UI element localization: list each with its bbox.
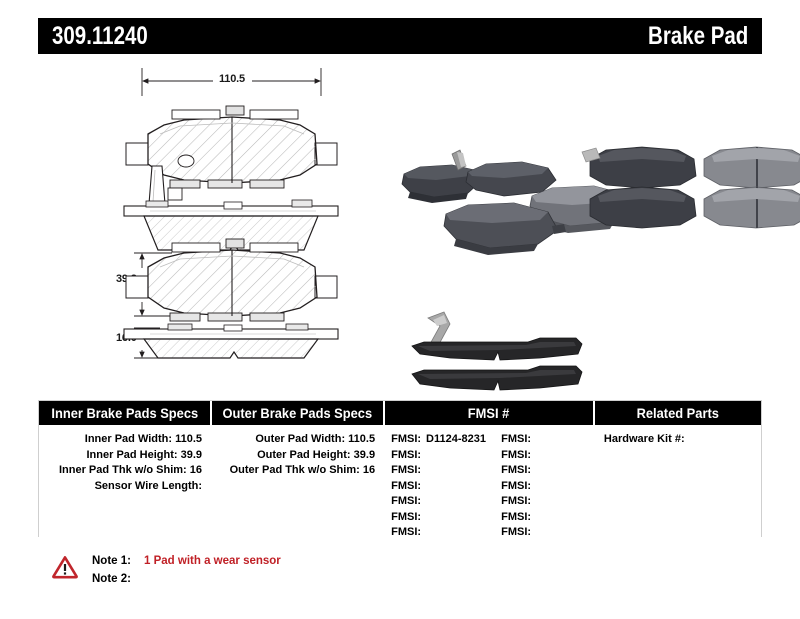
table-header-inner-specs: Inner Brake Pads Specs — [39, 401, 210, 425]
fmsi-value: D1124-8231 — [421, 433, 486, 445]
fmsi-value — [531, 449, 536, 461]
fmsi-value — [531, 480, 536, 492]
fmsi-label: FMSI: — [501, 432, 531, 448]
spec-row: Outer Pad Thk w/o Shim: 16 — [212, 463, 375, 479]
fmsi-label: FMSI: — [391, 448, 421, 464]
specifications-table: Inner Brake Pads Specs Outer Brake Pads … — [38, 400, 762, 537]
fmsi-label: FMSI: — [501, 463, 531, 479]
fmsi-row: FMSI: — [501, 525, 536, 541]
warning-triangle-icon — [52, 555, 78, 579]
fmsi-label: FMSI: — [501, 494, 531, 510]
table-header-outer-specs: Outer Brake Pads Specs — [212, 401, 383, 425]
fmsi-value — [531, 511, 536, 523]
pad-front-view-drawing — [126, 239, 337, 321]
fmsi-label: FMSI: — [391, 479, 421, 495]
fmsi-row: FMSI:D1124-8231 — [391, 432, 501, 448]
page-header-bar: 309.11240 Brake Pad — [38, 18, 762, 54]
note-row-2: Note 2: — [92, 570, 281, 588]
fmsi-value — [531, 433, 536, 445]
brake-pad-pair-edge-photo — [412, 312, 582, 390]
spec-label: Inner Pad Height: — [87, 449, 178, 461]
fmsi-value — [421, 511, 426, 523]
fmsi-value — [531, 495, 536, 507]
fmsi-column-2: FMSI: FMSI: FMSI: FMSI: FMSI: FMSI: FMSI… — [501, 432, 536, 537]
fmsi-row: FMSI: — [391, 525, 501, 541]
table-header-row: Inner Brake Pads Specs Outer Brake Pads … — [39, 401, 761, 425]
table-body-row: Inner Pad Width: 110.5 Inner Pad Height:… — [39, 425, 761, 537]
fmsi-label: FMSI: — [391, 463, 421, 479]
fmsi-value — [421, 495, 426, 507]
note-1-label: Note 1: — [92, 552, 144, 570]
spec-value: 39.9 — [181, 449, 202, 461]
fmsi-value — [421, 464, 426, 476]
fmsi-row: FMSI: — [391, 463, 501, 479]
fmsi-label: FMSI: — [501, 479, 531, 495]
spec-row: Inner Pad Height: 39.9 — [39, 448, 202, 464]
related-part-label: Hardware Kit #: — [604, 433, 685, 445]
fmsi-value — [421, 480, 426, 492]
fmsi-label: FMSI: — [391, 432, 421, 448]
spec-row: Inner Pad Width: 110.5 — [39, 432, 202, 448]
spec-label: Inner Pad Thk w/o Shim: — [59, 464, 187, 476]
note-2-label: Note 2: — [92, 570, 144, 588]
fmsi-row: FMSI: — [391, 448, 501, 464]
spec-row: Outer Pad Width: 110.5 — [212, 432, 375, 448]
spec-value: 16 — [363, 464, 375, 476]
brake-pad-set-grid-photo — [582, 147, 800, 228]
spec-label: Inner Pad Width: — [85, 433, 172, 445]
related-part-row: Hardware Kit #: — [604, 432, 761, 448]
fmsi-row: FMSI: — [501, 510, 536, 526]
line-drawings-svg — [0, 54, 800, 394]
spec-label: Sensor Wire Length: — [95, 480, 202, 492]
table-header-inner-label: Inner Brake Pads Specs — [51, 405, 198, 421]
fmsi-row: FMSI: — [501, 432, 536, 448]
width-dimension-line — [142, 68, 321, 96]
fmsi-cell: FMSI:D1124-8231 FMSI: FMSI: FMSI: FMSI: … — [385, 425, 593, 537]
fmsi-row: FMSI: — [391, 510, 501, 526]
spec-value: 110.5 — [175, 433, 202, 445]
fmsi-label: FMSI: — [391, 494, 421, 510]
fmsi-row: FMSI: — [501, 494, 536, 510]
spec-label: Outer Pad Thk w/o Shim: — [230, 464, 360, 476]
spec-row: Inner Pad Thk w/o Shim: 16 — [39, 463, 202, 479]
fmsi-label: FMSI: — [501, 525, 531, 541]
spec-value: 16 — [190, 464, 202, 476]
pad-edge-view-drawing — [124, 324, 338, 358]
note-1-value: 1 Pad with a wear sensor — [144, 552, 281, 570]
fmsi-row: FMSI: — [391, 494, 501, 510]
table-header-fmsi-label: FMSI # — [468, 405, 510, 421]
spec-row: Outer Pad Height: 39.9 — [212, 448, 375, 464]
spec-row: Sensor Wire Length: — [39, 479, 202, 495]
fmsi-value — [421, 449, 426, 461]
spec-value: 110.5 — [348, 433, 375, 445]
fmsi-column-1: FMSI:D1124-8231 FMSI: FMSI: FMSI: FMSI: … — [391, 432, 501, 537]
fmsi-value — [531, 464, 536, 476]
table-header-fmsi: FMSI # — [385, 401, 593, 425]
spec-value: 39.9 — [354, 449, 375, 461]
fmsi-label: FMSI: — [391, 510, 421, 526]
table-header-outer-label: Outer Brake Pads Specs — [223, 405, 373, 421]
notes-section: Note 1: 1 Pad with a wear sensor Note 2: — [52, 552, 281, 588]
drawings-area: 110.5 39.2 16.0 — [0, 54, 800, 394]
fmsi-row: FMSI: — [501, 448, 536, 464]
fmsi-row: FMSI: — [501, 463, 536, 479]
part-number: 309.11240 — [52, 24, 148, 49]
table-header-related-label: Related Parts — [637, 405, 719, 421]
related-parts-cell: Hardware Kit #: — [595, 425, 761, 537]
page-title: Brake Pad — [648, 24, 748, 49]
fmsi-row: FMSI: — [391, 479, 501, 495]
note-row-1: Note 1: 1 Pad with a wear sensor — [92, 552, 281, 570]
fmsi-row: FMSI: — [501, 479, 536, 495]
fmsi-value — [531, 526, 536, 538]
spec-label: Outer Pad Height: — [257, 449, 351, 461]
inner-specs-cell: Inner Pad Width: 110.5 Inner Pad Height:… — [39, 425, 210, 537]
fmsi-label: FMSI: — [501, 448, 531, 464]
outer-specs-cell: Outer Pad Width: 110.5 Outer Pad Height:… — [212, 425, 383, 537]
fmsi-label: FMSI: — [501, 510, 531, 526]
fmsi-label: FMSI: — [391, 525, 421, 541]
table-header-related-parts: Related Parts — [595, 401, 761, 425]
spec-label: Outer Pad Width: — [255, 433, 345, 445]
note-rows: Note 1: 1 Pad with a wear sensor Note 2: — [92, 552, 281, 588]
fmsi-value — [421, 526, 426, 538]
